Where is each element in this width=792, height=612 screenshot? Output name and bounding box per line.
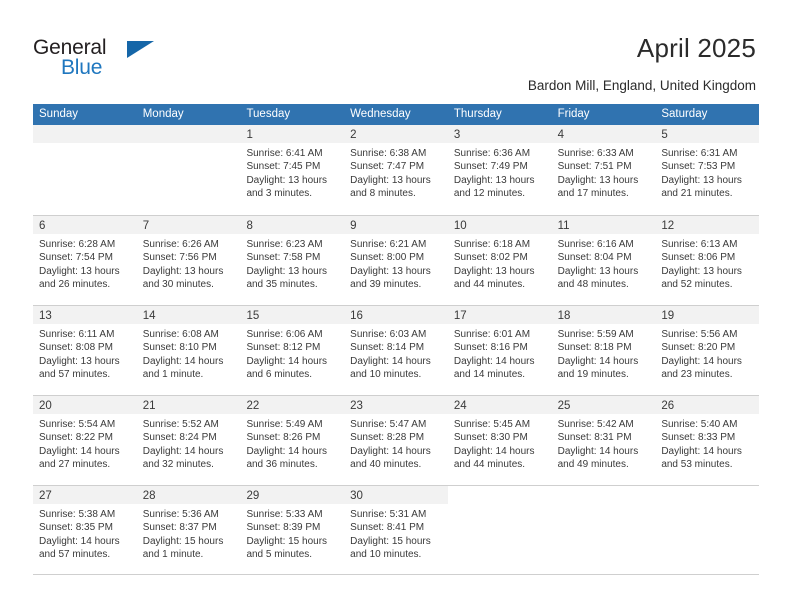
day-sun-info: Sunrise: 6:41 AMSunset: 7:45 PMDaylight:… bbox=[240, 143, 344, 201]
day-sun-info: Sunrise: 5:54 AMSunset: 8:22 PMDaylight:… bbox=[33, 414, 137, 472]
day-number-band: 8 bbox=[240, 216, 344, 234]
day-sun-info: Sunrise: 6:21 AMSunset: 8:00 PMDaylight:… bbox=[344, 234, 448, 292]
sunrise-text: Sunrise: 6:18 AM bbox=[454, 238, 546, 251]
sunset-text: Sunset: 8:33 PM bbox=[661, 431, 753, 444]
sunrise-text: Sunrise: 6:03 AM bbox=[350, 328, 442, 341]
sunset-text: Sunset: 8:22 PM bbox=[39, 431, 131, 444]
daylight-text: Daylight: 14 hours and 23 minutes. bbox=[661, 355, 753, 382]
sunrise-text: Sunrise: 6:31 AM bbox=[661, 147, 753, 160]
daylight-text: Daylight: 14 hours and 32 minutes. bbox=[143, 445, 235, 472]
day-number-band: 20 bbox=[33, 396, 137, 414]
calendar-day-cell[interactable]: 6Sunrise: 6:28 AMSunset: 7:54 PMDaylight… bbox=[33, 216, 137, 305]
day-number-band: 30 bbox=[344, 486, 448, 504]
sunrise-text: Sunrise: 6:36 AM bbox=[454, 147, 546, 160]
calendar-week-row: 27Sunrise: 5:38 AMSunset: 8:35 PMDayligh… bbox=[33, 485, 759, 575]
calendar-day-cell-empty bbox=[33, 125, 137, 215]
sunrise-text: Sunrise: 6:06 AM bbox=[246, 328, 338, 341]
calendar-day-cell[interactable]: 28Sunrise: 5:36 AMSunset: 8:37 PMDayligh… bbox=[137, 486, 241, 574]
day-number-band: 19 bbox=[655, 306, 759, 324]
daylight-text: Daylight: 14 hours and 40 minutes. bbox=[350, 445, 442, 472]
day-number: 4 bbox=[558, 129, 564, 141]
sunrise-text: Sunrise: 5:47 AM bbox=[350, 418, 442, 431]
sunrise-text: Sunrise: 5:45 AM bbox=[454, 418, 546, 431]
sunset-text: Sunset: 7:51 PM bbox=[558, 160, 650, 173]
day-sun-info: Sunrise: 5:42 AMSunset: 8:31 PMDaylight:… bbox=[552, 414, 656, 472]
sunrise-text: Sunrise: 6:21 AM bbox=[350, 238, 442, 251]
day-number: 23 bbox=[350, 400, 363, 412]
sunset-text: Sunset: 7:49 PM bbox=[454, 160, 546, 173]
day-number: 21 bbox=[143, 400, 156, 412]
day-number-band bbox=[552, 486, 656, 504]
day-number-band: 16 bbox=[344, 306, 448, 324]
day-number-band: 28 bbox=[137, 486, 241, 504]
logo-text-blue: Blue bbox=[61, 56, 102, 80]
daylight-text: Daylight: 14 hours and 36 minutes. bbox=[246, 445, 338, 472]
sunrise-text: Sunrise: 6:16 AM bbox=[558, 238, 650, 251]
calendar-day-cell[interactable]: 24Sunrise: 5:45 AMSunset: 8:30 PMDayligh… bbox=[448, 396, 552, 485]
day-sun-info: Sunrise: 5:45 AMSunset: 8:30 PMDaylight:… bbox=[448, 414, 552, 472]
page-subtitle-location: Bardon Mill, England, United Kingdom bbox=[528, 78, 756, 93]
day-number: 24 bbox=[454, 400, 467, 412]
sunset-text: Sunset: 8:06 PM bbox=[661, 251, 753, 264]
sunset-text: Sunset: 7:58 PM bbox=[246, 251, 338, 264]
day-number: 17 bbox=[454, 310, 467, 322]
sunrise-text: Sunrise: 6:23 AM bbox=[246, 238, 338, 251]
day-number-band: 9 bbox=[344, 216, 448, 234]
daylight-text: Daylight: 13 hours and 52 minutes. bbox=[661, 265, 753, 292]
day-number-band: 27 bbox=[33, 486, 137, 504]
day-sun-info: Sunrise: 6:31 AMSunset: 7:53 PMDaylight:… bbox=[655, 143, 759, 201]
daylight-text: Daylight: 14 hours and 53 minutes. bbox=[661, 445, 753, 472]
day-sun-info: Sunrise: 6:11 AMSunset: 8:08 PMDaylight:… bbox=[33, 324, 137, 382]
daylight-text: Daylight: 14 hours and 1 minute. bbox=[143, 355, 235, 382]
calendar-week-row: 6Sunrise: 6:28 AMSunset: 7:54 PMDaylight… bbox=[33, 215, 759, 305]
calendar-week-row: 13Sunrise: 6:11 AMSunset: 8:08 PMDayligh… bbox=[33, 305, 759, 395]
day-number: 8 bbox=[246, 220, 252, 232]
day-number-band bbox=[33, 125, 137, 143]
day-sun-info: Sunrise: 6:26 AMSunset: 7:56 PMDaylight:… bbox=[137, 234, 241, 292]
day-number-band: 7 bbox=[137, 216, 241, 234]
day-number: 12 bbox=[661, 220, 674, 232]
day-sun-info: Sunrise: 5:38 AMSunset: 8:35 PMDaylight:… bbox=[33, 504, 137, 562]
calendar-day-cell[interactable]: 11Sunrise: 6:16 AMSunset: 8:04 PMDayligh… bbox=[552, 216, 656, 305]
calendar-day-cell[interactable]: 1Sunrise: 6:41 AMSunset: 7:45 PMDaylight… bbox=[240, 125, 344, 215]
day-number-band: 3 bbox=[448, 125, 552, 143]
calendar-day-cell[interactable]: 9Sunrise: 6:21 AMSunset: 8:00 PMDaylight… bbox=[344, 216, 448, 305]
day-sun-info: Sunrise: 6:38 AMSunset: 7:47 PMDaylight:… bbox=[344, 143, 448, 201]
day-number: 5 bbox=[661, 129, 667, 141]
sunrise-text: Sunrise: 5:52 AM bbox=[143, 418, 235, 431]
daylight-text: Daylight: 14 hours and 44 minutes. bbox=[454, 445, 546, 472]
daylight-text: Daylight: 13 hours and 30 minutes. bbox=[143, 265, 235, 292]
calendar-day-cell[interactable]: 3Sunrise: 6:36 AMSunset: 7:49 PMDaylight… bbox=[448, 125, 552, 215]
calendar-day-cell[interactable]: 18Sunrise: 5:59 AMSunset: 8:18 PMDayligh… bbox=[552, 306, 656, 395]
sunrise-text: Sunrise: 5:36 AM bbox=[143, 508, 235, 521]
calendar-day-cell[interactable]: 19Sunrise: 5:56 AMSunset: 8:20 PMDayligh… bbox=[655, 306, 759, 395]
sunset-text: Sunset: 7:53 PM bbox=[661, 160, 753, 173]
day-number: 16 bbox=[350, 310, 363, 322]
sunrise-text: Sunrise: 6:08 AM bbox=[143, 328, 235, 341]
day-number: 29 bbox=[246, 490, 259, 502]
daylight-text: Daylight: 13 hours and 12 minutes. bbox=[454, 174, 546, 201]
calendar-day-cell-empty bbox=[552, 486, 656, 574]
daylight-text: Daylight: 13 hours and 39 minutes. bbox=[350, 265, 442, 292]
calendar-day-cell[interactable]: 2Sunrise: 6:38 AMSunset: 7:47 PMDaylight… bbox=[344, 125, 448, 215]
day-number-band: 10 bbox=[448, 216, 552, 234]
logo-triangle-icon bbox=[127, 41, 154, 58]
day-number-band: 11 bbox=[552, 216, 656, 234]
sunset-text: Sunset: 8:24 PM bbox=[143, 431, 235, 444]
day-sun-info: Sunrise: 5:56 AMSunset: 8:20 PMDaylight:… bbox=[655, 324, 759, 382]
day-sun-info: Sunrise: 6:23 AMSunset: 7:58 PMDaylight:… bbox=[240, 234, 344, 292]
sunset-text: Sunset: 7:45 PM bbox=[246, 160, 338, 173]
day-number: 10 bbox=[454, 220, 467, 232]
sunset-text: Sunset: 8:26 PM bbox=[246, 431, 338, 444]
day-number-band: 25 bbox=[552, 396, 656, 414]
calendar-page: General Blue April 2025 Bardon Mill, Eng… bbox=[0, 0, 792, 612]
sunrise-text: Sunrise: 5:38 AM bbox=[39, 508, 131, 521]
sunrise-text: Sunrise: 5:31 AM bbox=[350, 508, 442, 521]
day-number-band bbox=[448, 486, 552, 504]
day-sun-info: Sunrise: 5:49 AMSunset: 8:26 PMDaylight:… bbox=[240, 414, 344, 472]
day-number: 1 bbox=[246, 129, 252, 141]
sunset-text: Sunset: 8:18 PM bbox=[558, 341, 650, 354]
weekday-header-wednesday: Wednesday bbox=[344, 104, 448, 125]
day-number-band: 5 bbox=[655, 125, 759, 143]
daylight-text: Daylight: 14 hours and 14 minutes. bbox=[454, 355, 546, 382]
day-number: 25 bbox=[558, 400, 571, 412]
calendar-day-cell[interactable]: 4Sunrise: 6:33 AMSunset: 7:51 PMDaylight… bbox=[552, 125, 656, 215]
day-number: 19 bbox=[661, 310, 674, 322]
sunset-text: Sunset: 8:37 PM bbox=[143, 521, 235, 534]
sunset-text: Sunset: 8:20 PM bbox=[661, 341, 753, 354]
sunset-text: Sunset: 8:41 PM bbox=[350, 521, 442, 534]
sunrise-text: Sunrise: 6:38 AM bbox=[350, 147, 442, 160]
day-number-band: 2 bbox=[344, 125, 448, 143]
calendar-day-cell[interactable]: 21Sunrise: 5:52 AMSunset: 8:24 PMDayligh… bbox=[137, 396, 241, 485]
day-sun-info: Sunrise: 6:16 AMSunset: 8:04 PMDaylight:… bbox=[552, 234, 656, 292]
calendar-weeks: 1Sunrise: 6:41 AMSunset: 7:45 PMDaylight… bbox=[33, 125, 759, 575]
day-sun-info: Sunrise: 6:01 AMSunset: 8:16 PMDaylight:… bbox=[448, 324, 552, 382]
day-sun-info: Sunrise: 6:28 AMSunset: 7:54 PMDaylight:… bbox=[33, 234, 137, 292]
weekday-header-row: Sunday Monday Tuesday Wednesday Thursday… bbox=[33, 104, 759, 125]
calendar-day-cell[interactable]: 23Sunrise: 5:47 AMSunset: 8:28 PMDayligh… bbox=[344, 396, 448, 485]
day-number-band: 29 bbox=[240, 486, 344, 504]
day-sun-info: Sunrise: 6:03 AMSunset: 8:14 PMDaylight:… bbox=[344, 324, 448, 382]
day-sun-info: Sunrise: 6:18 AMSunset: 8:02 PMDaylight:… bbox=[448, 234, 552, 292]
day-number: 30 bbox=[350, 490, 363, 502]
sunrise-text: Sunrise: 6:26 AM bbox=[143, 238, 235, 251]
day-sun-info: Sunrise: 6:06 AMSunset: 8:12 PMDaylight:… bbox=[240, 324, 344, 382]
calendar-day-cell[interactable]: 13Sunrise: 6:11 AMSunset: 8:08 PMDayligh… bbox=[33, 306, 137, 395]
daylight-text: Daylight: 14 hours and 6 minutes. bbox=[246, 355, 338, 382]
calendar-day-cell[interactable]: 17Sunrise: 6:01 AMSunset: 8:16 PMDayligh… bbox=[448, 306, 552, 395]
weekday-header-monday: Monday bbox=[137, 104, 241, 125]
sunset-text: Sunset: 8:10 PM bbox=[143, 341, 235, 354]
day-number-band: 4 bbox=[552, 125, 656, 143]
day-number-band: 18 bbox=[552, 306, 656, 324]
sunrise-text: Sunrise: 6:11 AM bbox=[39, 328, 131, 341]
calendar-day-cell[interactable]: 20Sunrise: 5:54 AMSunset: 8:22 PMDayligh… bbox=[33, 396, 137, 485]
calendar-day-cell[interactable]: 12Sunrise: 6:13 AMSunset: 8:06 PMDayligh… bbox=[655, 216, 759, 305]
calendar-day-cell[interactable]: 22Sunrise: 5:49 AMSunset: 8:26 PMDayligh… bbox=[240, 396, 344, 485]
day-number: 26 bbox=[661, 400, 674, 412]
sunrise-text: Sunrise: 6:33 AM bbox=[558, 147, 650, 160]
sunset-text: Sunset: 8:39 PM bbox=[246, 521, 338, 534]
calendar-week-row: 20Sunrise: 5:54 AMSunset: 8:22 PMDayligh… bbox=[33, 395, 759, 485]
day-sun-info: Sunrise: 5:33 AMSunset: 8:39 PMDaylight:… bbox=[240, 504, 344, 562]
sunrise-text: Sunrise: 5:56 AM bbox=[661, 328, 753, 341]
calendar-day-cell[interactable]: 26Sunrise: 5:40 AMSunset: 8:33 PMDayligh… bbox=[655, 396, 759, 485]
daylight-text: Daylight: 15 hours and 5 minutes. bbox=[246, 535, 338, 562]
daylight-text: Daylight: 13 hours and 26 minutes. bbox=[39, 265, 131, 292]
day-number-band: 26 bbox=[655, 396, 759, 414]
day-number-band: 6 bbox=[33, 216, 137, 234]
sunrise-text: Sunrise: 5:42 AM bbox=[558, 418, 650, 431]
calendar-day-cell[interactable]: 15Sunrise: 6:06 AMSunset: 8:12 PMDayligh… bbox=[240, 306, 344, 395]
day-number: 27 bbox=[39, 490, 52, 502]
calendar-day-cell[interactable]: 7Sunrise: 6:26 AMSunset: 7:56 PMDaylight… bbox=[137, 216, 241, 305]
daylight-text: Daylight: 15 hours and 1 minute. bbox=[143, 535, 235, 562]
calendar-day-cell[interactable]: 30Sunrise: 5:31 AMSunset: 8:41 PMDayligh… bbox=[344, 486, 448, 574]
calendar-day-cell[interactable]: 8Sunrise: 6:23 AMSunset: 7:58 PMDaylight… bbox=[240, 216, 344, 305]
calendar-day-cell[interactable]: 14Sunrise: 6:08 AMSunset: 8:10 PMDayligh… bbox=[137, 306, 241, 395]
day-number: 20 bbox=[39, 400, 52, 412]
weekday-header-sunday: Sunday bbox=[33, 104, 137, 125]
daylight-text: Daylight: 13 hours and 48 minutes. bbox=[558, 265, 650, 292]
day-sun-info: Sunrise: 5:36 AMSunset: 8:37 PMDaylight:… bbox=[137, 504, 241, 562]
sunrise-text: Sunrise: 6:13 AM bbox=[661, 238, 753, 251]
sunrise-text: Sunrise: 5:49 AM bbox=[246, 418, 338, 431]
page-header: General Blue April 2025 Bardon Mill, Eng… bbox=[0, 0, 792, 100]
day-number-band: 23 bbox=[344, 396, 448, 414]
sunset-text: Sunset: 8:30 PM bbox=[454, 431, 546, 444]
sunset-text: Sunset: 8:12 PM bbox=[246, 341, 338, 354]
day-sun-info: Sunrise: 6:33 AMSunset: 7:51 PMDaylight:… bbox=[552, 143, 656, 201]
daylight-text: Daylight: 13 hours and 35 minutes. bbox=[246, 265, 338, 292]
day-number: 11 bbox=[558, 220, 570, 232]
calendar-day-cell[interactable]: 5Sunrise: 6:31 AMSunset: 7:53 PMDaylight… bbox=[655, 125, 759, 215]
general-blue-logo: General Blue bbox=[33, 36, 153, 82]
day-sun-info: Sunrise: 5:47 AMSunset: 8:28 PMDaylight:… bbox=[344, 414, 448, 472]
day-number-band bbox=[137, 125, 241, 143]
calendar-day-cell[interactable]: 16Sunrise: 6:03 AMSunset: 8:14 PMDayligh… bbox=[344, 306, 448, 395]
day-number: 14 bbox=[143, 310, 156, 322]
day-number-band: 14 bbox=[137, 306, 241, 324]
day-number: 2 bbox=[350, 129, 356, 141]
sunset-text: Sunset: 7:56 PM bbox=[143, 251, 235, 264]
day-sun-info: Sunrise: 6:13 AMSunset: 8:06 PMDaylight:… bbox=[655, 234, 759, 292]
weekday-header-tuesday: Tuesday bbox=[240, 104, 344, 125]
sunrise-sunset-calendar: Sunday Monday Tuesday Wednesday Thursday… bbox=[33, 104, 759, 575]
daylight-text: Daylight: 13 hours and 8 minutes. bbox=[350, 174, 442, 201]
day-number: 6 bbox=[39, 220, 45, 232]
day-sun-info: Sunrise: 5:59 AMSunset: 8:18 PMDaylight:… bbox=[552, 324, 656, 382]
day-number-band: 22 bbox=[240, 396, 344, 414]
sunset-text: Sunset: 8:04 PM bbox=[558, 251, 650, 264]
sunset-text: Sunset: 8:00 PM bbox=[350, 251, 442, 264]
sunset-text: Sunset: 7:54 PM bbox=[39, 251, 131, 264]
calendar-day-cell-empty bbox=[448, 486, 552, 574]
calendar-day-cell-empty bbox=[137, 125, 241, 215]
sunset-text: Sunset: 8:02 PM bbox=[454, 251, 546, 264]
day-number: 15 bbox=[246, 310, 259, 322]
day-number: 28 bbox=[143, 490, 156, 502]
day-sun-info: Sunrise: 6:36 AMSunset: 7:49 PMDaylight:… bbox=[448, 143, 552, 201]
weekday-header-thursday: Thursday bbox=[448, 104, 552, 125]
daylight-text: Daylight: 13 hours and 3 minutes. bbox=[246, 174, 338, 201]
day-sun-info: Sunrise: 5:40 AMSunset: 8:33 PMDaylight:… bbox=[655, 414, 759, 472]
day-number-band bbox=[655, 486, 759, 504]
calendar-day-cell[interactable]: 27Sunrise: 5:38 AMSunset: 8:35 PMDayligh… bbox=[33, 486, 137, 574]
sunset-text: Sunset: 8:28 PM bbox=[350, 431, 442, 444]
day-number: 3 bbox=[454, 129, 460, 141]
day-number: 18 bbox=[558, 310, 571, 322]
day-number-band: 1 bbox=[240, 125, 344, 143]
day-sun-info: Sunrise: 5:31 AMSunset: 8:41 PMDaylight:… bbox=[344, 504, 448, 562]
day-number-band: 12 bbox=[655, 216, 759, 234]
sunrise-text: Sunrise: 6:28 AM bbox=[39, 238, 131, 251]
sunset-text: Sunset: 7:47 PM bbox=[350, 160, 442, 173]
calendar-day-cell[interactable]: 29Sunrise: 5:33 AMSunset: 8:39 PMDayligh… bbox=[240, 486, 344, 574]
sunset-text: Sunset: 8:35 PM bbox=[39, 521, 131, 534]
day-number: 9 bbox=[350, 220, 356, 232]
daylight-text: Daylight: 13 hours and 44 minutes. bbox=[454, 265, 546, 292]
sunset-text: Sunset: 8:16 PM bbox=[454, 341, 546, 354]
sunset-text: Sunset: 8:14 PM bbox=[350, 341, 442, 354]
sunset-text: Sunset: 8:08 PM bbox=[39, 341, 131, 354]
day-number: 13 bbox=[39, 310, 52, 322]
calendar-day-cell[interactable]: 25Sunrise: 5:42 AMSunset: 8:31 PMDayligh… bbox=[552, 396, 656, 485]
sunrise-text: Sunrise: 6:41 AM bbox=[246, 147, 338, 160]
daylight-text: Daylight: 13 hours and 21 minutes. bbox=[661, 174, 753, 201]
daylight-text: Daylight: 13 hours and 17 minutes. bbox=[558, 174, 650, 201]
day-number-band: 21 bbox=[137, 396, 241, 414]
day-number-band: 24 bbox=[448, 396, 552, 414]
daylight-text: Daylight: 14 hours and 49 minutes. bbox=[558, 445, 650, 472]
sunrise-text: Sunrise: 6:01 AM bbox=[454, 328, 546, 341]
sunrise-text: Sunrise: 5:40 AM bbox=[661, 418, 753, 431]
sunrise-text: Sunrise: 5:54 AM bbox=[39, 418, 131, 431]
daylight-text: Daylight: 14 hours and 19 minutes. bbox=[558, 355, 650, 382]
daylight-text: Daylight: 15 hours and 10 minutes. bbox=[350, 535, 442, 562]
page-title: April 2025 bbox=[637, 33, 756, 64]
day-sun-info: Sunrise: 5:52 AMSunset: 8:24 PMDaylight:… bbox=[137, 414, 241, 472]
day-sun-info: Sunrise: 6:08 AMSunset: 8:10 PMDaylight:… bbox=[137, 324, 241, 382]
calendar-day-cell-empty bbox=[655, 486, 759, 574]
daylight-text: Daylight: 14 hours and 57 minutes. bbox=[39, 535, 131, 562]
daylight-text: Daylight: 14 hours and 27 minutes. bbox=[39, 445, 131, 472]
day-number-band: 13 bbox=[33, 306, 137, 324]
weekday-header-friday: Friday bbox=[552, 104, 656, 125]
day-number: 7 bbox=[143, 220, 149, 232]
sunrise-text: Sunrise: 5:33 AM bbox=[246, 508, 338, 521]
daylight-text: Daylight: 13 hours and 57 minutes. bbox=[39, 355, 131, 382]
sunrise-text: Sunrise: 5:59 AM bbox=[558, 328, 650, 341]
daylight-text: Daylight: 14 hours and 10 minutes. bbox=[350, 355, 442, 382]
weekday-header-saturday: Saturday bbox=[655, 104, 759, 125]
calendar-week-row: 1Sunrise: 6:41 AMSunset: 7:45 PMDaylight… bbox=[33, 125, 759, 215]
day-number-band: 17 bbox=[448, 306, 552, 324]
day-number: 22 bbox=[246, 400, 259, 412]
calendar-day-cell[interactable]: 10Sunrise: 6:18 AMSunset: 8:02 PMDayligh… bbox=[448, 216, 552, 305]
sunset-text: Sunset: 8:31 PM bbox=[558, 431, 650, 444]
day-number-band: 15 bbox=[240, 306, 344, 324]
